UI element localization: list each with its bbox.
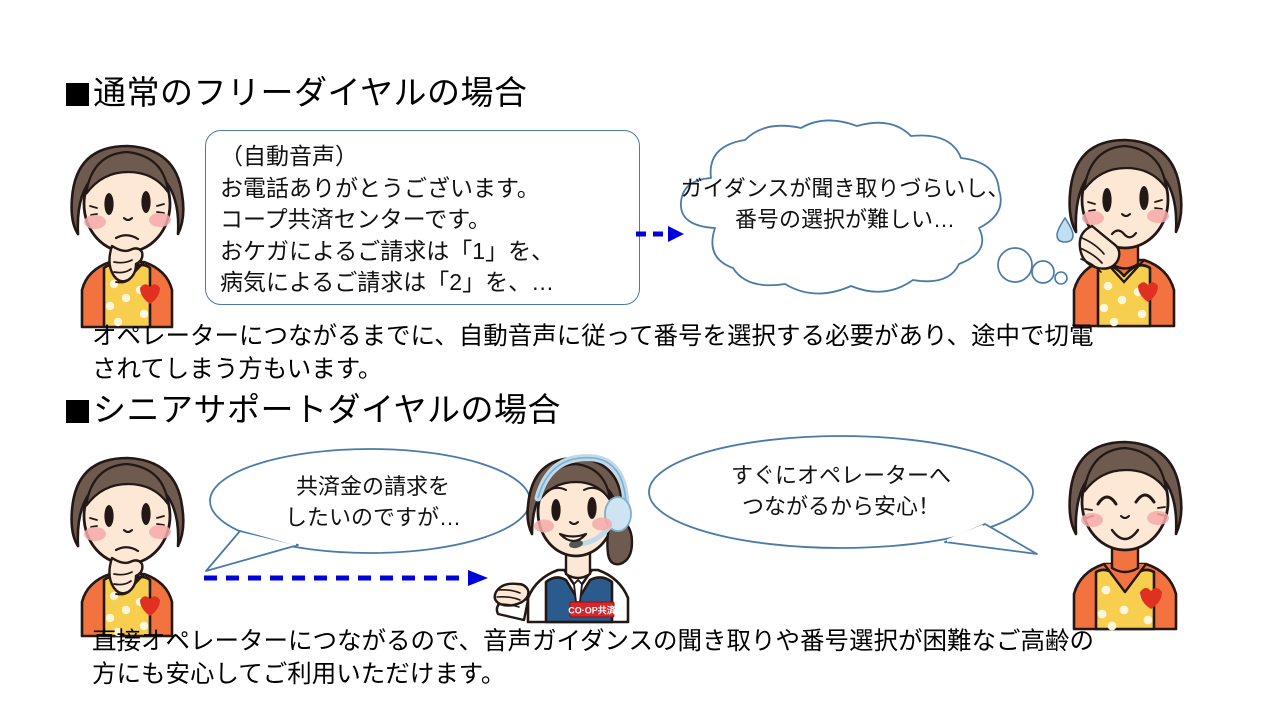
woman-troubled-right-top — [1048, 118, 1203, 326]
woman-happy-right-bottom — [1048, 424, 1203, 629]
woman-thinking-left-bottom — [52, 436, 202, 636]
woman-thinking-left-top — [52, 122, 202, 327]
coop-kyosai-badge: CO·OP共済 — [568, 602, 617, 617]
customer-request-bubble: 共済金の請求を したいのですが… — [198, 443, 538, 583]
customer-frustration-thought-text: ガイダンスが聞き取りづらいし、 番号の選択が難しい… — [665, 173, 1025, 235]
bullet-square-icon — [66, 400, 89, 423]
bullet-square-icon — [66, 83, 89, 106]
customer-frustration-thought-cloud: ガイダンスが聞き取りづらいし、 番号の選択が難しい… — [655, 118, 1035, 303]
caption-normal-freedial: オペレーターにつながるまでに、自動音声に従って番号を選択する必要があり、途中で切… — [92, 320, 1252, 386]
automated-voice-speech-box: （自動音声） お電話ありがとうございます。 コープ共済センターです。 おケガによ… — [205, 130, 640, 305]
operator-with-headset: CO·OP共済 — [494, 450, 659, 622]
long-dashed-arrow — [202, 566, 492, 590]
hand — [495, 584, 529, 606]
automated-voice-text: （自動音声） お電話ありがとうございます。 コープ共済センターです。 おケガによ… — [206, 131, 639, 299]
section-heading-normal-freedial: 通常のフリーダイヤルの場合 — [66, 76, 528, 109]
section-heading-senior-support: シニアサポートダイヤルの場合 — [66, 393, 561, 426]
customer-relief-bubble-text: すぐにオペレーターへ つながるから安心！ — [665, 460, 1017, 522]
caption-senior-support: 直接オペレーターにつながるので、音声ガイダンスの聞き取りや番号選択が困難なご高齢… — [92, 625, 1252, 691]
section-heading-senior-support-label: シニアサポートダイヤルの場合 — [93, 391, 561, 428]
section-heading-normal-freedial-label: 通常のフリーダイヤルの場合 — [93, 74, 528, 111]
svg-text:CO·OP共済: CO·OP共済 — [568, 605, 617, 616]
slide-canvas: 通常のフリーダイヤルの場合 — [0, 0, 1280, 720]
customer-request-bubble-text: 共済金の請求を したいのですが… — [228, 471, 518, 533]
customer-relief-bubble: すぐにオペレーターへ つながるから安心！ — [645, 432, 1045, 584]
